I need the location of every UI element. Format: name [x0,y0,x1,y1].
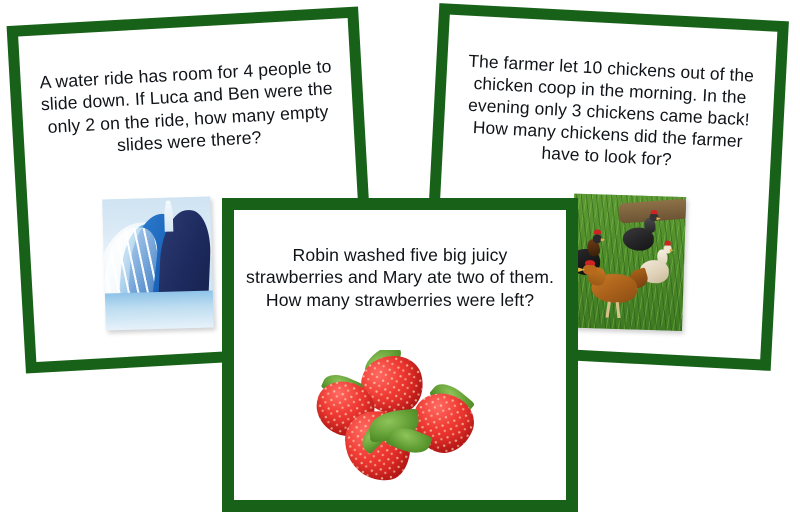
flashcard-board: A water ride has room for 4 people to sl… [0,0,800,529]
chicken-comb [664,241,670,246]
strawberry-card[interactable]: Robin washed five big juicy strawberries… [222,198,578,512]
chicken-leg [605,301,611,317]
water-slide-pool [105,291,214,331]
chicken-comb [651,210,658,215]
chickens-photo [570,194,686,331]
chicken-head [583,264,596,276]
chicken-leg [616,302,621,318]
chicken-question-text: The farmer let 10 chickens out of the ch… [450,49,767,176]
chicken-comb [594,229,601,234]
chicken-brown-foreground [575,239,665,322]
water-slide-question-text: A water ride has room for 4 people to sl… [35,55,340,161]
strawberry-question-text: Robin washed five big juicy strawberries… [244,244,556,311]
strawberries-photo [304,350,496,496]
chicken-comb [585,260,595,266]
water-slide-photo [102,197,214,331]
